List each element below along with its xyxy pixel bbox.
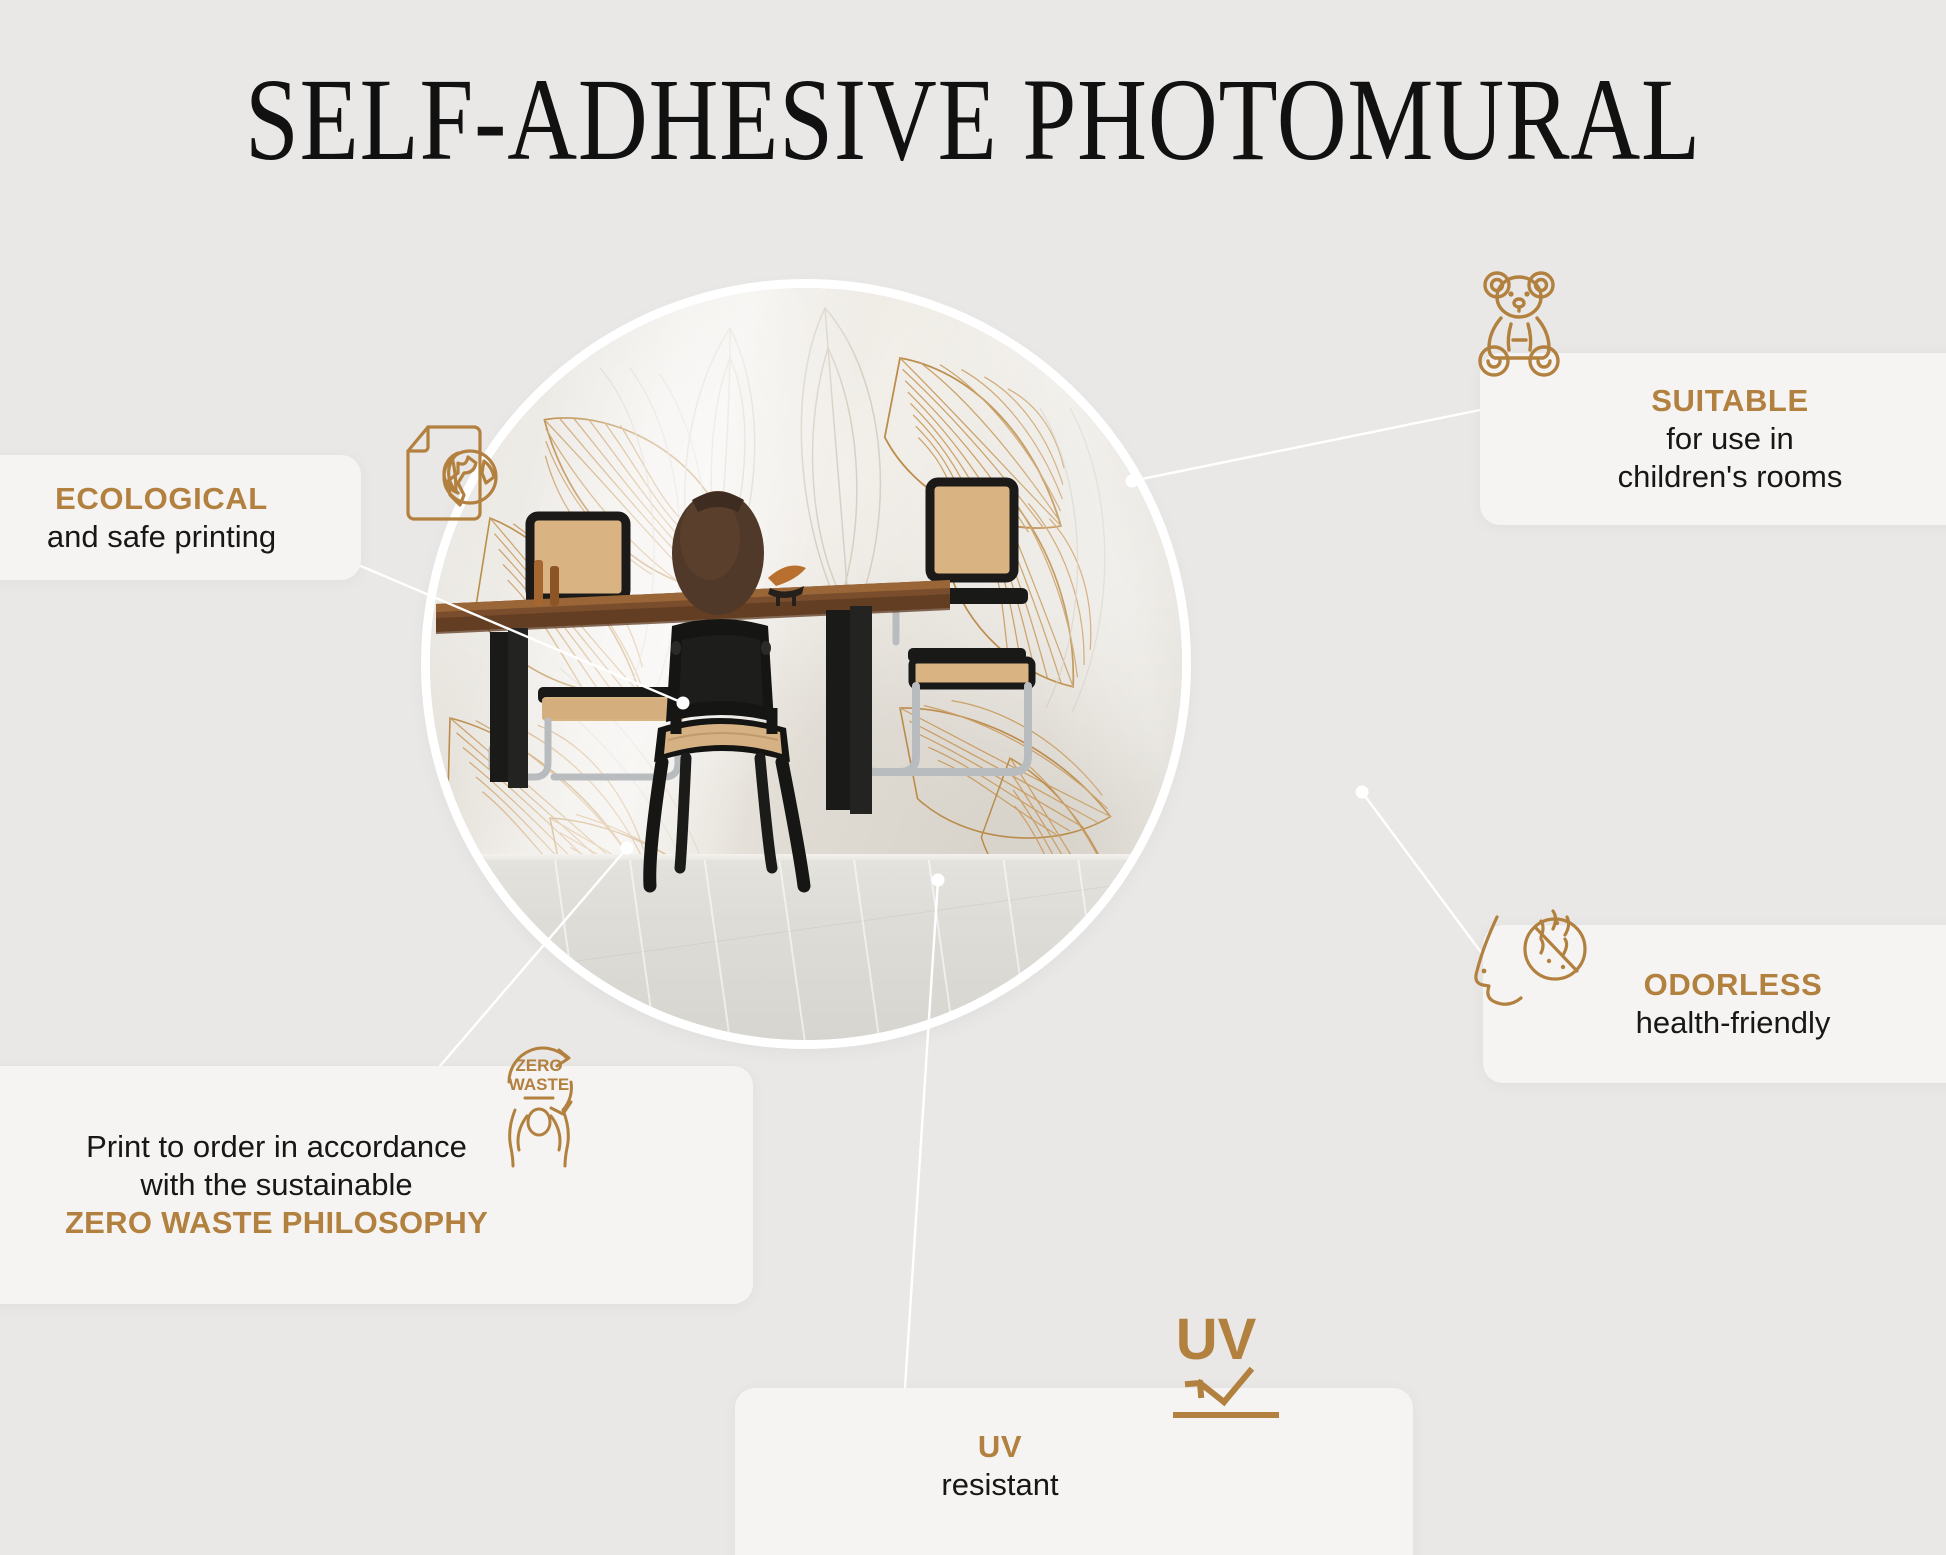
zero-waste-label-bottom: WASTE bbox=[509, 1075, 569, 1094]
feature-card-zero-waste[interactable]: Print to order in accordance with the su… bbox=[0, 1066, 753, 1304]
room-scene-photo bbox=[430, 288, 1182, 1040]
feature-heading-uv: UV bbox=[978, 1428, 1022, 1466]
feature-heading-suitable: SUITABLE bbox=[1651, 382, 1809, 420]
ceramic-vase bbox=[672, 491, 764, 615]
uv-icon-label: UV bbox=[1176, 1309, 1257, 1372]
leader-line-odorless bbox=[1362, 792, 1483, 955]
zero-waste-label-top: ZERO bbox=[515, 1056, 562, 1075]
leader-line-suitable bbox=[1132, 410, 1480, 481]
feature-text-odorless: health-friendly bbox=[1636, 1004, 1831, 1042]
teddy-bear-icon bbox=[1470, 268, 1570, 383]
uv-ray-reflect-icon: UV bbox=[1148, 1309, 1293, 1439]
eco-document-globe-leaf-icon bbox=[392, 413, 512, 533]
feature-card-ecological[interactable]: ECOLOGICAL and safe printing bbox=[0, 455, 361, 580]
nose-no-odor-icon bbox=[1467, 905, 1597, 1015]
feature-card-uv[interactable]: UV resistant bbox=[735, 1388, 1413, 1555]
product-photo-circle bbox=[430, 288, 1182, 1040]
furniture-group bbox=[430, 288, 1182, 1040]
feature-text-zero-line2: with the sustainable bbox=[140, 1166, 412, 1204]
cane-armchair-right bbox=[860, 482, 1032, 772]
feature-heading-odorless: ODORLESS bbox=[1644, 966, 1823, 1004]
feature-heading-ecological: ECOLOGICAL bbox=[55, 480, 268, 518]
black-wooden-chair bbox=[650, 619, 804, 886]
zero-waste-hands-icon: ZERO WASTE bbox=[485, 1030, 595, 1170]
feature-text-zero-line1: Print to order in accordance bbox=[86, 1128, 467, 1166]
page-title: SELF-ADHESIVE PHOTOMURAL bbox=[175, 58, 1771, 182]
infographic-root: SELF-ADHESIVE PHOTOMURAL bbox=[0, 0, 1946, 1555]
feature-text-zero-line3: ZERO WASTE PHILOSOPHY bbox=[65, 1204, 488, 1242]
feature-text-suitable-line1: for use in bbox=[1666, 420, 1794, 458]
feature-text-suitable-line2: children's rooms bbox=[1618, 458, 1843, 496]
leader-dot-odorless bbox=[1356, 786, 1369, 799]
feature-text-ecological: and safe printing bbox=[47, 518, 276, 556]
feature-text-uv: resistant bbox=[941, 1466, 1058, 1504]
